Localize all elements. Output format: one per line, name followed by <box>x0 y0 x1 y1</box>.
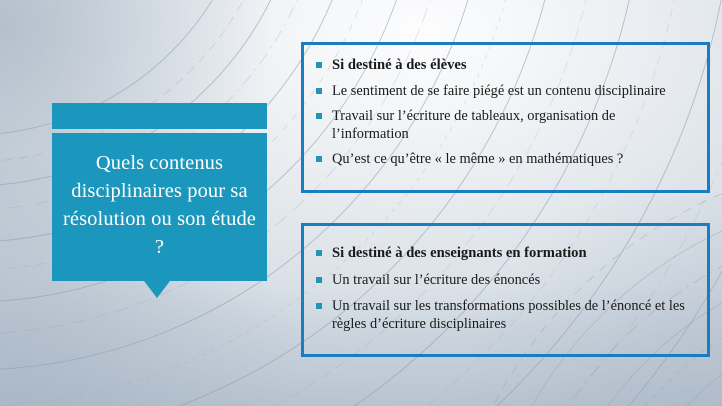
list-item[interactable]: Le sentiment de se faire piégé est un co… <box>314 83 693 101</box>
list-item-label: Qu’est ce qu’être « le même » en mathéma… <box>332 151 623 167</box>
list-item-label: Si destiné à des enseignants en formatio… <box>332 245 587 261</box>
bullet-square-icon <box>316 113 322 119</box>
list-item[interactable]: Travail sur l’écriture de tableaux, orga… <box>314 108 693 143</box>
callout-tail-pointer <box>144 281 170 298</box>
bullet-square-icon <box>316 62 322 68</box>
list-item-label: Un travail sur l’écriture des énoncés <box>332 272 540 288</box>
list-item[interactable]: Un travail sur les transformations possi… <box>314 298 693 333</box>
callout-header-bar <box>52 103 267 129</box>
bullet-list-eleves: Si destiné à des élèves Le sentiment de … <box>314 55 693 169</box>
list-item-label: Un travail sur les transformations possi… <box>332 298 685 332</box>
list-item-label: Travail sur l’écriture de tableaux, orga… <box>332 108 615 142</box>
callout-question-box[interactable]: Quels contenus disciplinaires pour sa ré… <box>52 133 267 281</box>
list-item-label: Le sentiment de se faire piégé est un co… <box>332 83 666 99</box>
bullet-list-enseignants: Si destiné à des enseignants en formatio… <box>314 236 693 333</box>
list-item[interactable]: Qu’est ce qu’être « le même » en mathéma… <box>314 151 693 169</box>
list-item[interactable]: Un travail sur l’écriture des énoncés <box>314 272 693 290</box>
content-box-enseignants[interactable]: Si destiné à des enseignants en formatio… <box>301 223 710 357</box>
list-item-label: Si destiné à des élèves <box>332 57 467 73</box>
bullet-square-icon <box>316 303 322 309</box>
bullet-square-icon <box>316 277 322 283</box>
list-item[interactable]: Si destiné à des enseignants en formatio… <box>314 245 693 263</box>
bullet-square-icon <box>316 156 322 162</box>
bullet-square-icon <box>316 250 322 256</box>
content-box-eleves[interactable]: Si destiné à des élèves Le sentiment de … <box>301 42 710 193</box>
bullet-square-icon <box>316 88 322 94</box>
callout-question-text: Quels contenus disciplinaires pour sa ré… <box>62 149 257 261</box>
list-item[interactable]: Si destiné à des élèves <box>314 57 693 75</box>
slide-canvas: Quels contenus disciplinaires pour sa ré… <box>0 0 722 406</box>
